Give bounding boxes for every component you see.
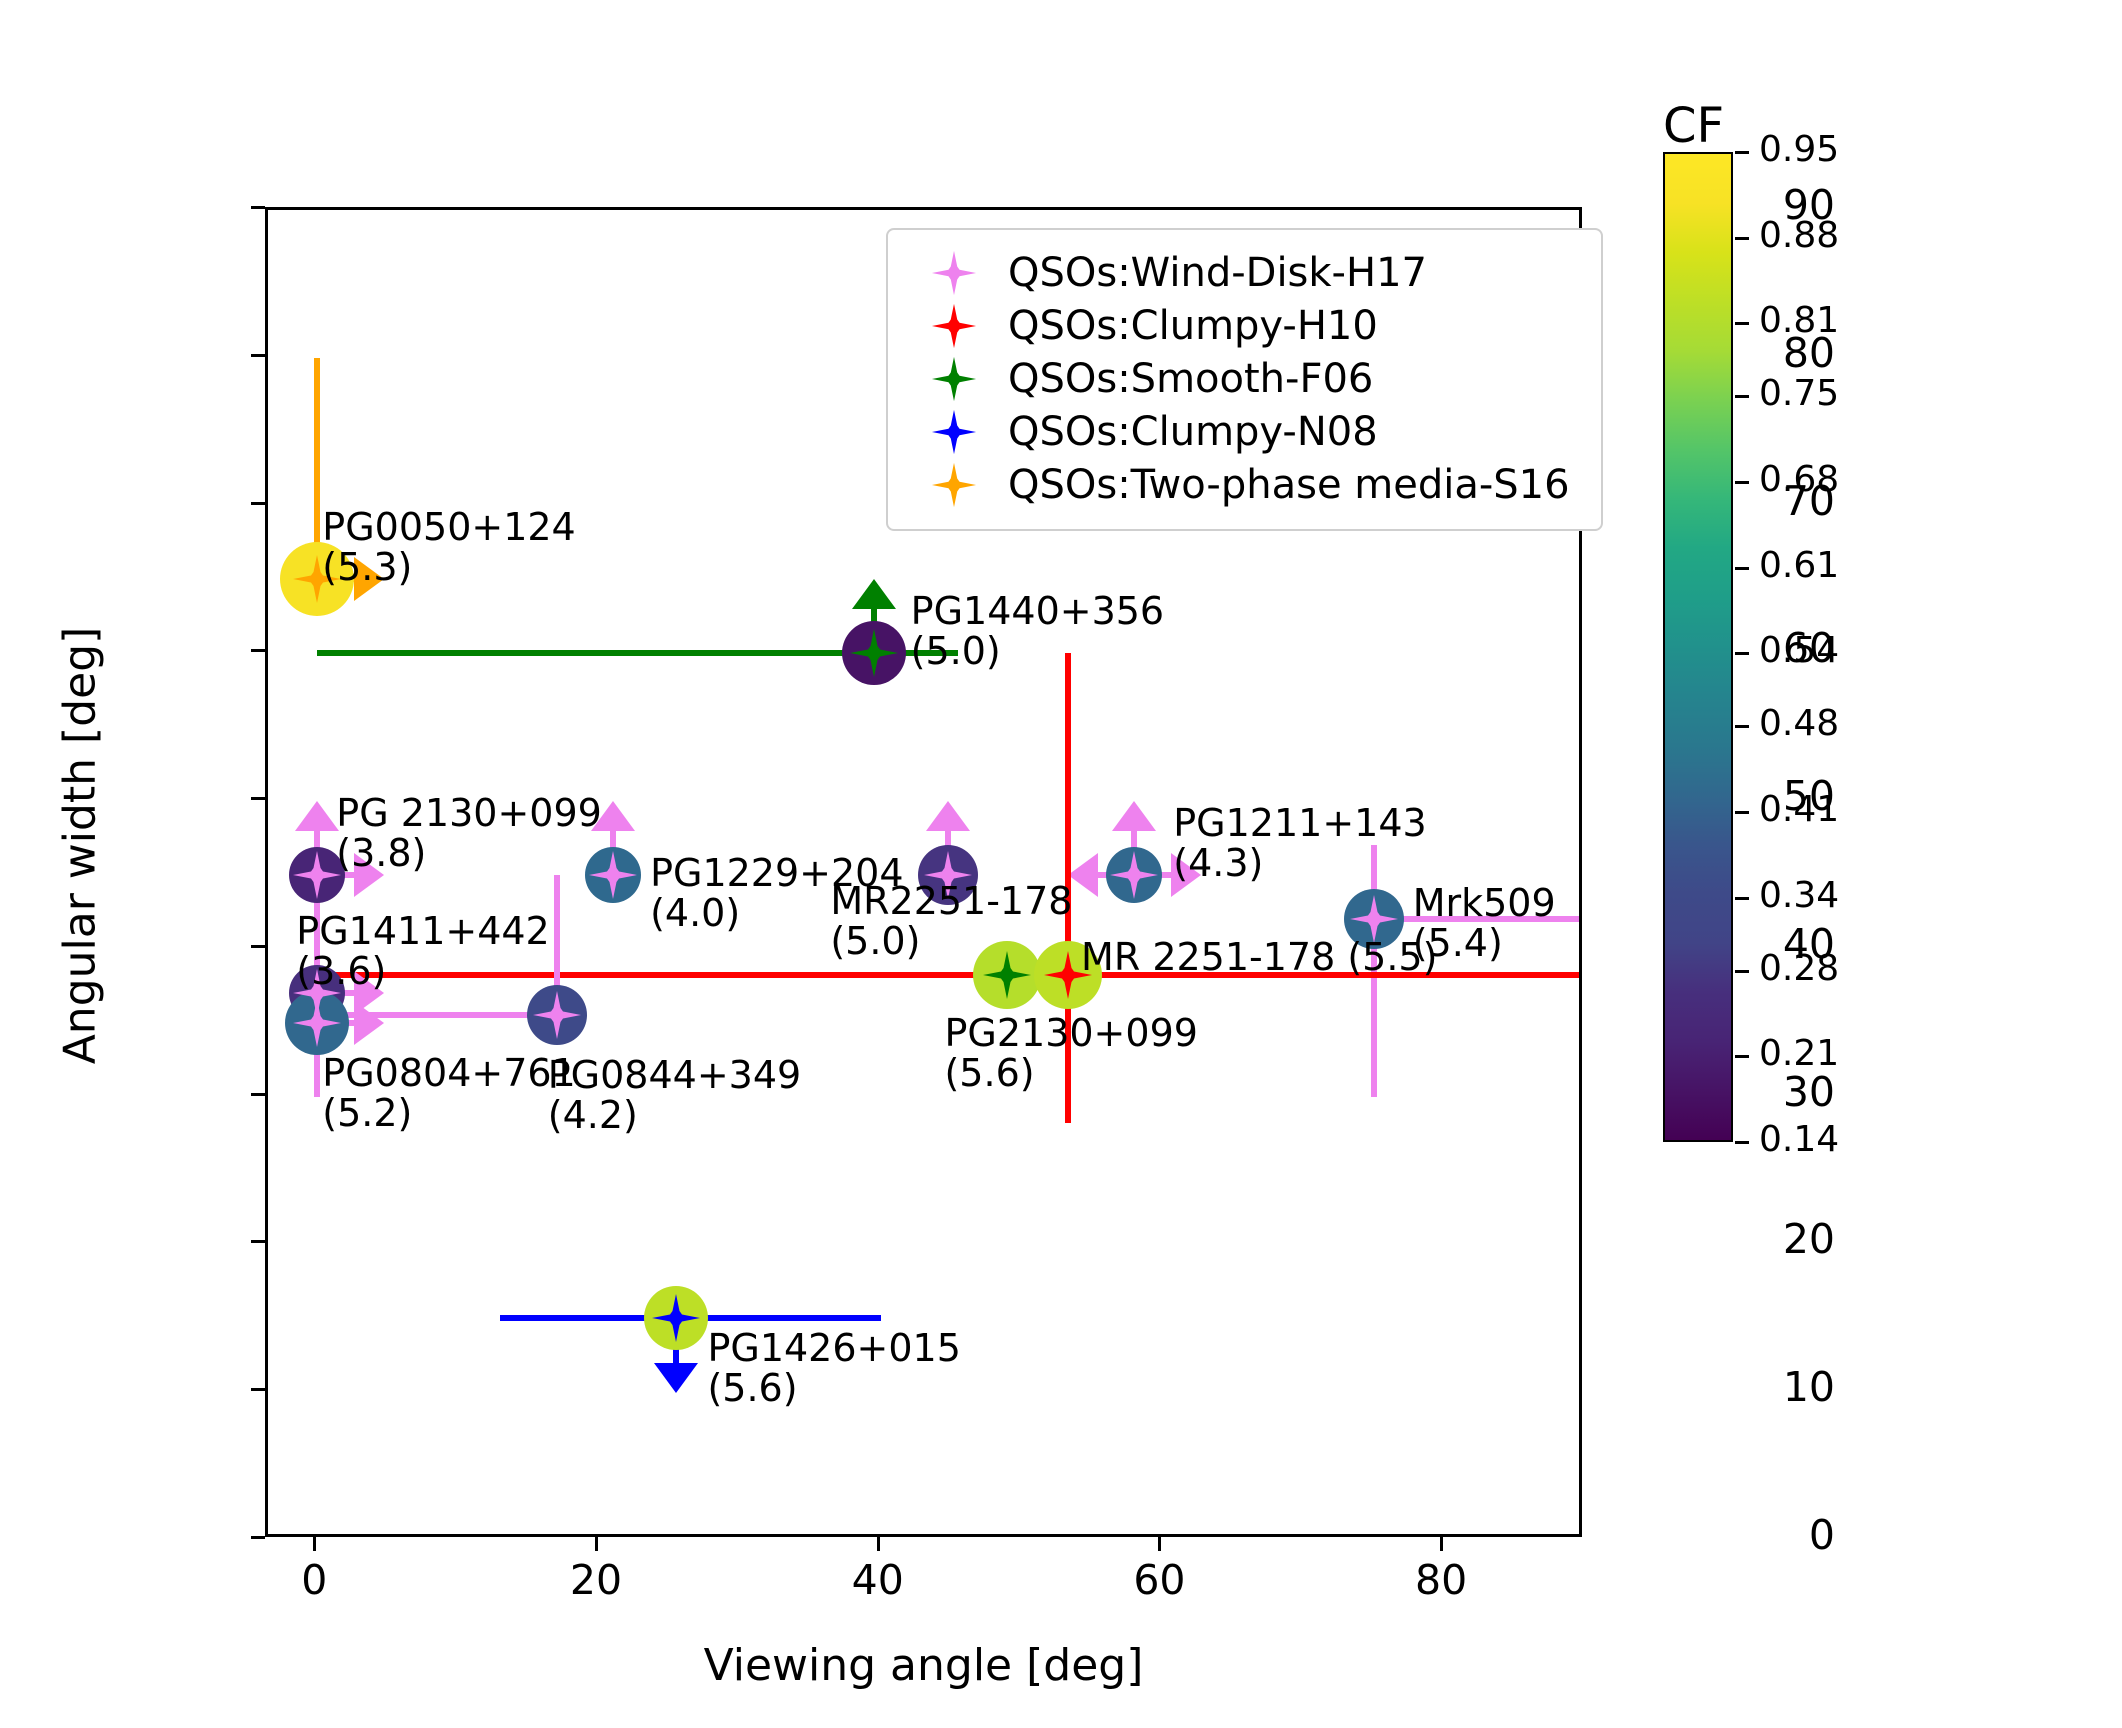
legend-label: QSOs:Wind-Disk-H17 <box>1002 250 1427 296</box>
legend-label: QSOs:Smooth-F06 <box>1002 356 1373 402</box>
data-point-label: PG0050+124 (5.3) <box>322 508 575 588</box>
legend: QSOs:Wind-Disk-H17QSOs:Clumpy-H10QSOs:Sm… <box>886 228 1603 531</box>
x-tick-mark <box>595 1537 598 1551</box>
data-point-label: PG0844+349 (4.2) <box>548 1056 801 1136</box>
legend-label: QSOs:Two-phase media-S16 <box>1002 462 1570 508</box>
colorbar-tick-label: 0.14 <box>1759 1122 1839 1158</box>
x-tick-mark <box>877 1537 880 1551</box>
y-tick-mark <box>251 206 265 209</box>
x-tick-label: 0 <box>301 1560 327 1601</box>
x-axis-title: Viewing angle [deg] <box>265 1640 1582 1691</box>
legend-star-icon <box>906 356 1002 402</box>
data-point-label: MR2251-178 (5.0) <box>830 882 1072 962</box>
colorbar-tick-label: 0.54 <box>1759 633 1839 669</box>
colorbar-tick-label: 0.34 <box>1759 878 1839 914</box>
colorbar-tick-label: 0.41 <box>1759 792 1839 828</box>
y-tick-mark <box>251 354 265 357</box>
legend-item[interactable]: QSOs:Smooth-F06 <box>906 352 1583 405</box>
x-tick-label: 40 <box>852 1560 904 1601</box>
y-tick-label: 30 <box>1783 1072 1835 1113</box>
y-tick-mark <box>251 1240 265 1243</box>
model-star-icon <box>292 850 342 900</box>
data-point-label: PG 2130+099 (3.8) <box>336 794 602 874</box>
legend-item[interactable]: QSOs:Clumpy-N08 <box>906 405 1583 458</box>
colorbar-tick-mark <box>1735 970 1749 973</box>
y-tick-label: 10 <box>1783 1367 1835 1408</box>
colorbar-tick-mark <box>1735 237 1749 240</box>
data-point-label: PG1411+442 (3.6) <box>296 912 549 992</box>
limit-arrow-up <box>1112 801 1156 831</box>
legend-item[interactable]: QSOs:Two-phase media-S16 <box>906 458 1583 511</box>
colorbar-tick-label: 0.88 <box>1759 218 1839 254</box>
y-tick-mark <box>251 1388 265 1391</box>
y-tick-mark <box>251 649 265 652</box>
colorbar <box>1663 152 1733 1142</box>
model-star-icon <box>849 628 899 678</box>
colorbar-title: CF <box>1663 98 1724 154</box>
colorbar-tick-label: 0.81 <box>1759 303 1839 339</box>
colorbar-tick-mark <box>1735 897 1749 900</box>
colorbar-tick-label: 0.61 <box>1759 548 1839 584</box>
colorbar-tick-mark <box>1735 1055 1749 1058</box>
y-tick-mark <box>251 945 265 948</box>
colorbar-tick-label: 0.95 <box>1759 132 1839 168</box>
y-tick-mark <box>251 502 265 505</box>
colorbar-tick-label: 0.75 <box>1759 376 1839 412</box>
colorbar-tick-mark <box>1735 567 1749 570</box>
y-tick-mark <box>251 797 265 800</box>
legend-star-icon <box>906 409 1002 455</box>
data-point-label: PG1211+143 (4.3) <box>1173 804 1426 884</box>
legend-label: QSOs:Clumpy-N08 <box>1002 409 1378 455</box>
legend-star-icon <box>906 250 1002 296</box>
data-point-label: PG1426+015 (5.6) <box>707 1329 960 1409</box>
colorbar-tick-mark <box>1735 725 1749 728</box>
colorbar-tick-mark <box>1735 811 1749 814</box>
data-point-label: MR 2251-178 (5.5) <box>1081 938 1437 978</box>
data-point-label: PG0804+761 (5.2) <box>322 1054 575 1134</box>
colorbar-tick-label: 0.48 <box>1759 706 1839 742</box>
x-tick-label: 80 <box>1415 1560 1467 1601</box>
figure-root: Angular width [deg] 0102030405060708090 … <box>0 0 2122 1728</box>
x-tick-mark <box>313 1537 316 1551</box>
colorbar-tick-mark <box>1735 322 1749 325</box>
colorbar-tick-mark <box>1735 1141 1749 1144</box>
x-tick-mark <box>1440 1537 1443 1551</box>
x-tick-label: 20 <box>570 1560 622 1601</box>
model-star-icon <box>651 1293 701 1343</box>
limit-arrow-down <box>654 1363 698 1393</box>
model-star-icon <box>292 998 342 1048</box>
y-axis-title: Angular width [deg] <box>55 496 106 1196</box>
colorbar-tick-mark <box>1735 395 1749 398</box>
y-tick-mark <box>251 1093 265 1096</box>
colorbar-tick-label: 0.68 <box>1759 462 1839 498</box>
model-star-icon <box>532 990 582 1040</box>
data-point-label: PG2130+099 (5.6) <box>944 1014 1197 1094</box>
x-tick-label: 60 <box>1133 1560 1185 1601</box>
y-tick-label: 0 <box>1809 1515 1835 1556</box>
limit-arrow-up <box>295 801 339 831</box>
limit-arrow-up <box>926 801 970 831</box>
colorbar-tick-label: 0.28 <box>1759 951 1839 987</box>
x-tick-mark <box>1158 1537 1161 1551</box>
legend-star-icon <box>906 303 1002 349</box>
legend-star-icon <box>906 462 1002 508</box>
limit-arrow-up <box>852 579 896 609</box>
colorbar-tick-mark <box>1735 652 1749 655</box>
limit-arrow-right <box>354 1001 384 1045</box>
colorbar-tick-mark <box>1735 151 1749 154</box>
y-tick-mark <box>251 1536 265 1539</box>
legend-item[interactable]: QSOs:Wind-Disk-H17 <box>906 246 1583 299</box>
colorbar-tick-mark <box>1735 481 1749 484</box>
legend-item[interactable]: QSOs:Clumpy-H10 <box>906 299 1583 352</box>
model-star-icon <box>1109 850 1159 900</box>
colorbar-tick-label: 0.21 <box>1759 1036 1839 1072</box>
data-point-label: PG1440+356 (5.0) <box>911 592 1164 672</box>
y-tick-label: 20 <box>1783 1219 1835 1260</box>
legend-label: QSOs:Clumpy-H10 <box>1002 303 1378 349</box>
